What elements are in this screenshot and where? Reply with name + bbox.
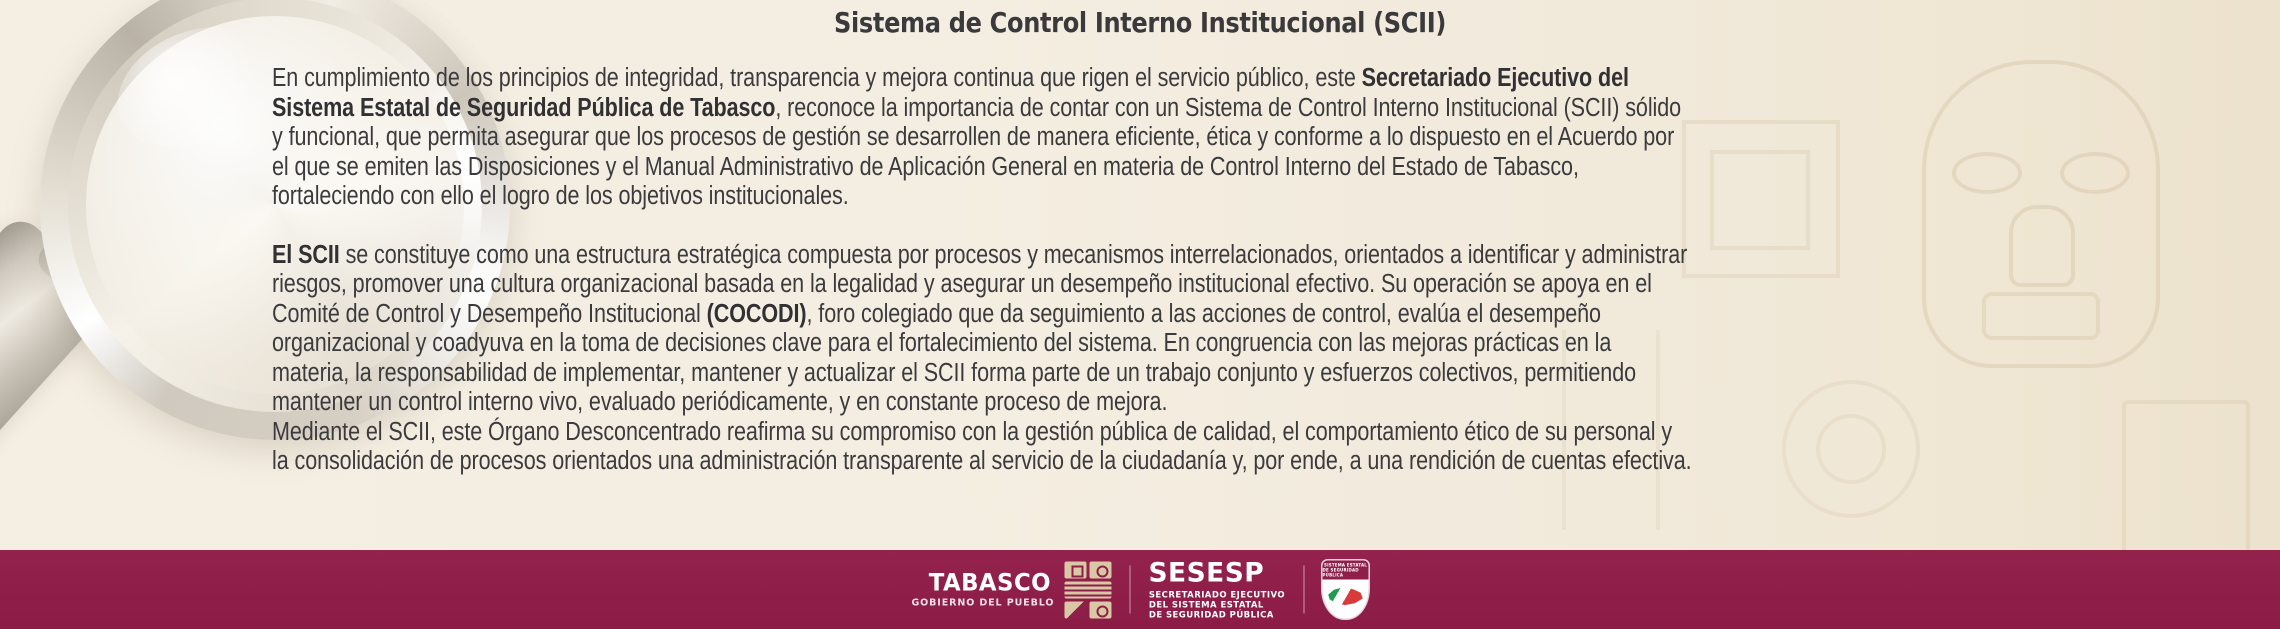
shield-header: SISTEMA ESTATAL DE SEGURIDAD PÚBLICA [1323, 561, 1369, 580]
tabasco-logo: TABASCO GOBIERNO DEL PUEBLO [911, 561, 1111, 618]
paragraph-1-part-a: En cumplimiento de los principios de int… [272, 64, 1362, 92]
sesesp-logo: SESESP SECRETARIADO EJECUTIVO DEL SISTEM… [1149, 559, 1285, 620]
paragraph-2-bold-cocodi: (COCODI) [707, 300, 807, 328]
footer-divider-2 [1303, 566, 1305, 614]
glyph-box-icon [1064, 561, 1086, 578]
page-title: Sistema de Control Interno Institucional… [160, 6, 2121, 39]
glyph-ring-icon [1089, 561, 1111, 578]
paragraph-2: El SCII se constituye como una estructur… [272, 241, 1692, 418]
footer-logo-group: TABASCO GOBIERNO DEL PUEBLO SESESP SECRE… [911, 559, 1368, 620]
shield-top-line-2: DE SEGURIDAD PÚBLICA [1323, 568, 1369, 578]
footer-divider-1 [1129, 566, 1131, 614]
glyph-wave-icon [1064, 581, 1111, 598]
glyph-steps-icon [1064, 601, 1086, 618]
tabasco-sub-text: GOBIERNO DEL PUEBLO [911, 599, 1054, 609]
tabasco-main-text: TABASCO [929, 571, 1051, 595]
security-shield-icon: SISTEMA ESTATAL DE SEGURIDAD PÚBLICA [1323, 561, 1369, 619]
sesesp-main-text: SESESP [1149, 559, 1282, 586]
body-text-block: En cumplimiento de los principios de int… [272, 64, 1692, 477]
slide-root: Sistema de Control Interno Institucional… [0, 0, 2280, 629]
tabasco-glyph-icon [1064, 561, 1111, 618]
tabasco-wordmark: TABASCO GOBIERNO DEL PUEBLO [911, 571, 1054, 609]
sesesp-sub-text: SECRETARIADO EJECUTIVO DEL SISTEMA ESTAT… [1149, 590, 1285, 620]
paragraph-1: En cumplimiento de los principios de int… [272, 64, 1692, 212]
paragraph-2-bold-lead: El SCII [272, 241, 340, 269]
paragraph-3: Mediante el SCII, este Órgano Desconcent… [272, 418, 1692, 477]
tabasco-map-icon [1328, 585, 1364, 609]
glyph-ring2-icon [1089, 601, 1111, 618]
footer-bar: TABASCO GOBIERNO DEL PUEBLO SESESP SECRE… [0, 550, 2280, 629]
sesesp-sub-line-3: DE SEGURIDAD PÚBLICA [1149, 612, 1285, 621]
sesesp-sub-line-2: DEL SISTEMA ESTATAL [1149, 602, 1285, 611]
slide-content: Sistema de Control Interno Institucional… [0, 0, 2280, 629]
sesesp-sub-line-1: SECRETARIADO EJECUTIVO [1149, 592, 1285, 601]
